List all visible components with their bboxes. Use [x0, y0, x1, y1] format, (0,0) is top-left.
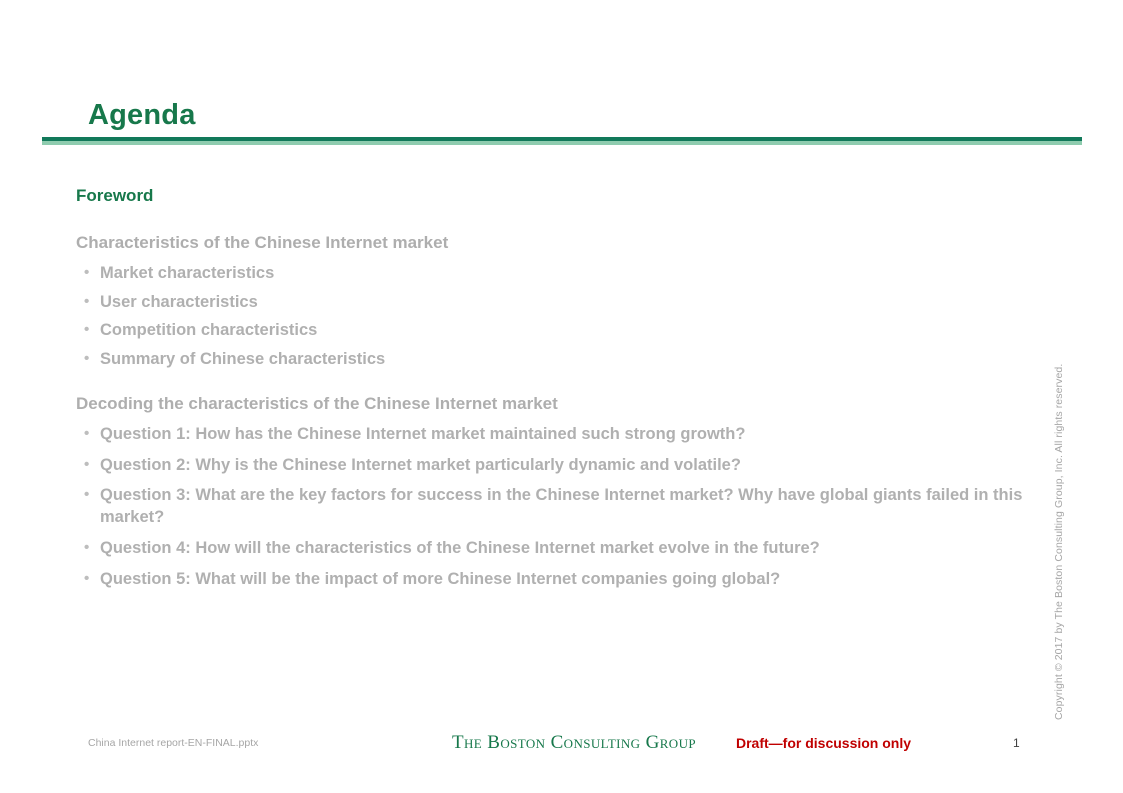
agenda-sub-item-label: Competition characteristics: [100, 321, 317, 339]
title-divider-light-line: [42, 141, 1082, 145]
agenda-sub-item[interactable]: • Question 2: Why is the Chinese Interne…: [76, 455, 1051, 477]
agenda-section-decoding[interactable]: Decoding the characteristics of the Chin…: [76, 393, 1051, 591]
copyright-text: Copyright © 2017 by The Boston Consultin…: [1053, 364, 1065, 720]
bullet-dot-icon: •: [84, 455, 89, 475]
agenda-sub-item-label: Summary of Chinese characteristics: [100, 350, 385, 368]
agenda-section-label: Characteristics of the Chinese Internet …: [76, 232, 1051, 255]
bullet-dot-icon: •: [84, 569, 89, 589]
agenda-sub-item-label: Question 5: What will be the impact of m…: [100, 570, 780, 588]
title-divider: [42, 137, 1082, 145]
bullet-dot-icon: •: [84, 292, 89, 312]
page-title: Agenda: [88, 100, 196, 132]
agenda-sub-item[interactable]: • User characteristics: [76, 292, 1051, 314]
agenda-sub-item[interactable]: • Summary of Chinese characteristics: [76, 349, 1051, 371]
agenda-sub-item-label: Question 2: Why is the Chinese Internet …: [100, 456, 741, 474]
agenda-section-label: Foreword: [76, 185, 1051, 208]
bullet-dot-icon: •: [84, 263, 89, 283]
agenda-section-label: Decoding the characteristics of the Chin…: [76, 393, 1051, 416]
agenda-sub-item[interactable]: • Question 4: How will the characteristi…: [76, 538, 1051, 560]
bullet-dot-icon: •: [84, 424, 89, 444]
agenda-sub-item-label: Market characteristics: [100, 264, 274, 282]
bullet-dot-icon: •: [84, 320, 89, 340]
agenda-sub-item-label: Question 3: What are the key factors for…: [100, 486, 1022, 526]
page-number: 1: [1013, 736, 1020, 750]
agenda-section-characteristics[interactable]: Characteristics of the Chinese Internet …: [76, 232, 1051, 371]
agenda-sub-item-label: Question 1: How has the Chinese Internet…: [100, 425, 745, 443]
agenda-sub-item[interactable]: • Question 3: What are the key factors f…: [76, 485, 1051, 529]
agenda-sub-item-label: Question 4: How will the characteristics…: [100, 539, 820, 557]
copyright-notice: Copyright © 2017 by The Boston Consultin…: [1049, 410, 1071, 720]
footer-filename: China Internet report-EN-FINAL.pptx: [88, 737, 258, 749]
agenda-sublist: • Market characteristics • User characte…: [76, 263, 1051, 371]
bullet-dot-icon: •: [84, 485, 89, 505]
agenda-sub-item[interactable]: • Question 5: What will be the impact of…: [76, 569, 1051, 591]
draft-disclaimer: Draft—for discussion only: [736, 735, 911, 751]
agenda-sublist: • Question 1: How has the Chinese Intern…: [76, 424, 1051, 591]
bullet-dot-icon: •: [84, 538, 89, 558]
agenda-list: Foreword Characteristics of the Chinese …: [76, 185, 1051, 599]
agenda-sub-item[interactable]: • Market characteristics: [76, 263, 1051, 285]
agenda-sub-item[interactable]: • Question 1: How has the Chinese Intern…: [76, 424, 1051, 446]
bullet-dot-icon: •: [84, 349, 89, 369]
bcg-logo: The Boston Consulting Group: [452, 732, 696, 754]
slide-canvas: Agenda Foreword Characteristics of the C…: [0, 0, 1123, 793]
agenda-sub-item[interactable]: • Competition characteristics: [76, 320, 1051, 342]
agenda-sub-item-label: User characteristics: [100, 293, 258, 311]
agenda-section-foreword[interactable]: Foreword: [76, 185, 1051, 208]
